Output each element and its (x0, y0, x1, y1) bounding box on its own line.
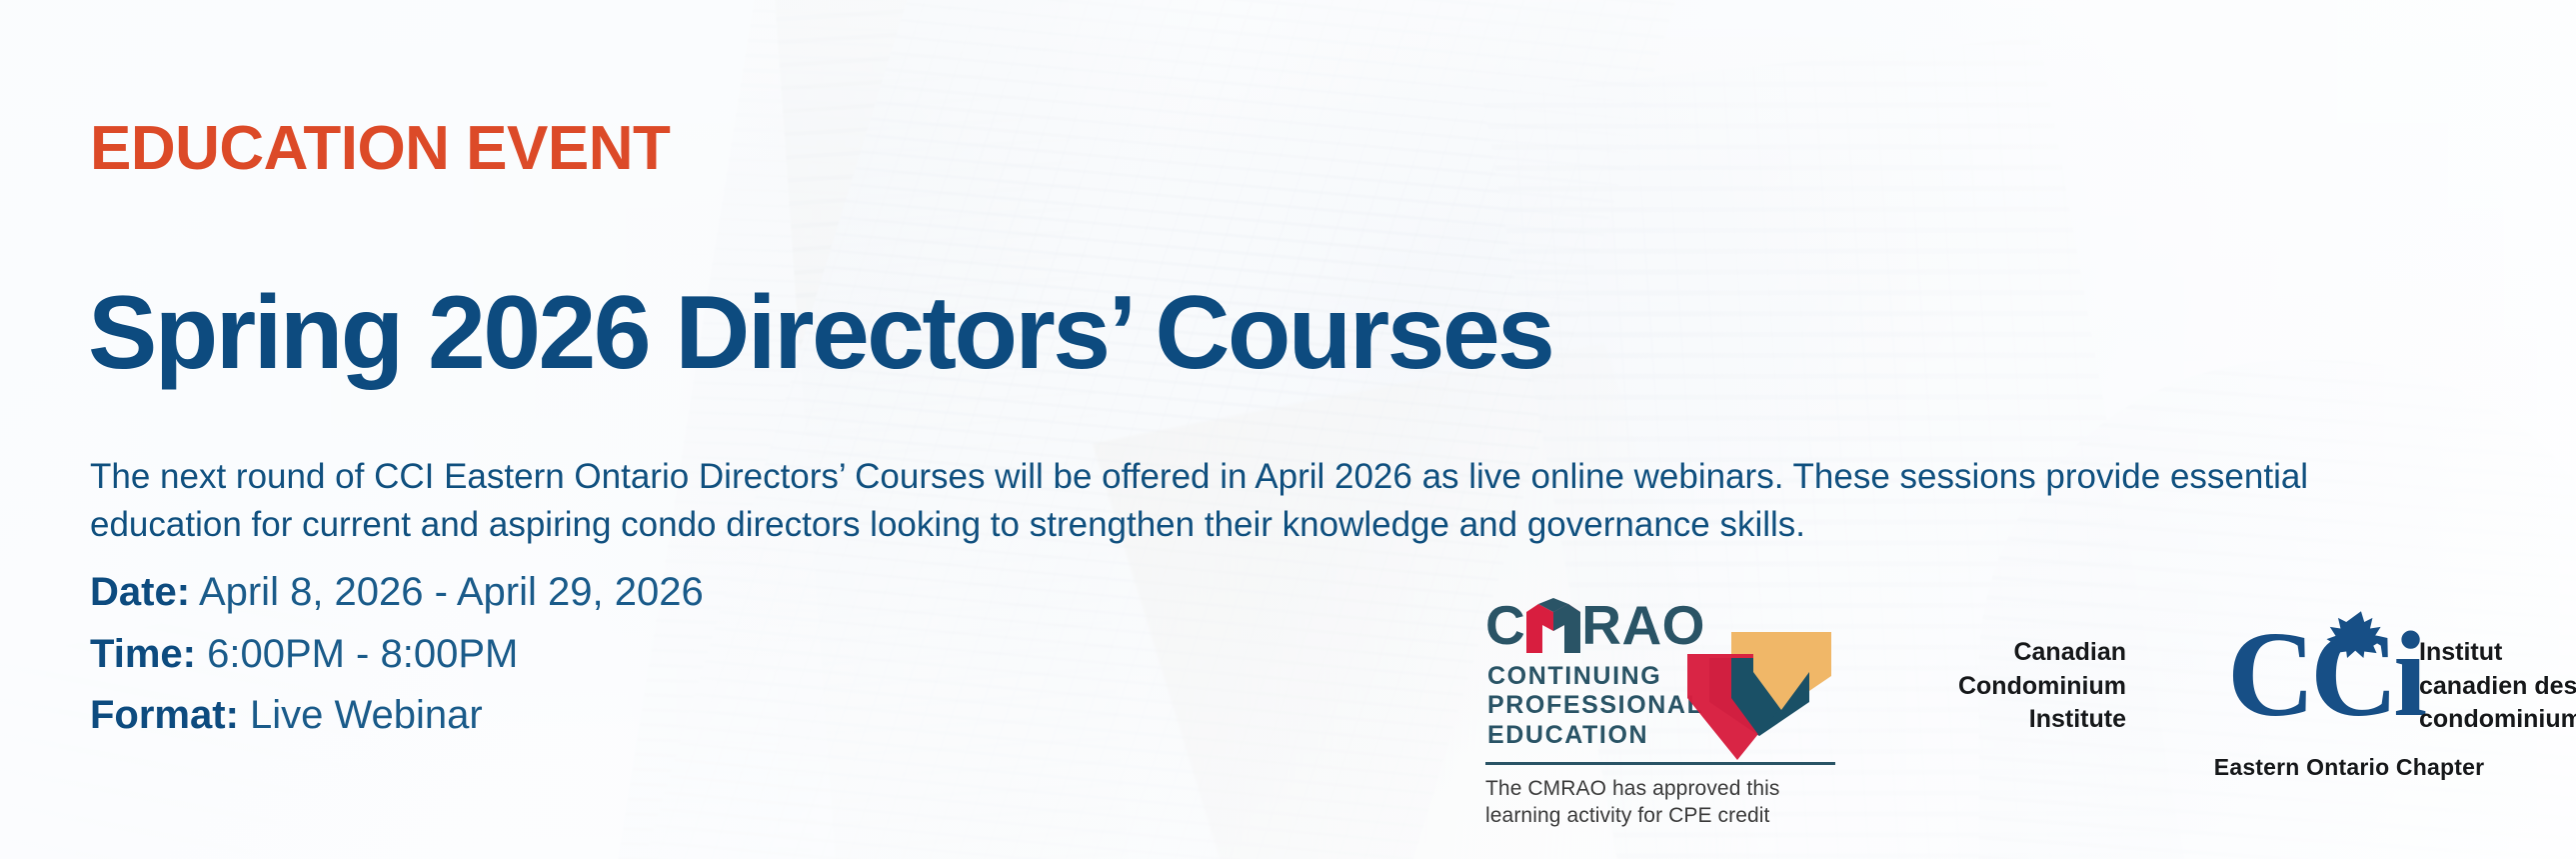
date-label: Date: (90, 570, 190, 614)
date-value: April 8, 2026 - April 29, 2026 (199, 570, 704, 614)
cmrao-tagline-line-2: PROFESSIONAL (1487, 691, 1703, 720)
event-eyebrow-label: EDUCATION EVENT (90, 118, 670, 180)
time-label: Time: (90, 632, 196, 676)
cmrao-wordmark-m-icon (1526, 598, 1580, 653)
event-description: The next round of CCI Eastern Ontario Di… (90, 453, 2409, 550)
cci-logo: Canadian Condominium Institute CCi Insti… (1989, 612, 2544, 792)
cci-chapter-label: Eastern Ontario Chapter (2209, 754, 2489, 781)
cci-french-line-1: Institut (2419, 636, 2576, 670)
cci-english-line-3: Institute (1896, 703, 2126, 737)
event-details-list: Date: April 8, 2026 - April 29, 2026 Tim… (90, 562, 704, 747)
cci-french-line-2: canadien des (2419, 670, 2576, 704)
cmrao-approval-note-line-1: The CMRAO has approved this (1485, 776, 1835, 803)
cmrao-wordmark-c: C (1485, 598, 1525, 653)
detail-row-format: Format: Live Webinar (90, 685, 704, 747)
page-title: Spring 2026 Directors’ Courses (88, 278, 1552, 388)
cmrao-approval-note: The CMRAO has approved this learning act… (1485, 776, 1835, 830)
format-label: Format: (90, 693, 239, 737)
cmrao-logo: C RAO CONTINUING PROFESSIONAL EDUCATION (1485, 598, 1835, 830)
cmrao-approval-note-line-2: learning activity for CPE credit (1485, 803, 1835, 830)
detail-row-date: Date: April 8, 2026 - April 29, 2026 (90, 562, 704, 624)
cci-monogram-icon: CCi (2227, 608, 2402, 758)
cmrao-tagline-line-1: CONTINUING (1487, 662, 1703, 691)
time-value: 6:00PM - 8:00PM (207, 632, 518, 676)
education-event-banner: EDUCATION EVENT Spring 2026 Directors’ C… (0, 0, 2576, 859)
cci-monogram-letters: CCi (2227, 614, 2422, 736)
cmrao-chevron-icon (1681, 624, 1831, 764)
cmrao-wordmark: C RAO (1485, 598, 1705, 653)
cci-english-line-2: Condominium (1896, 670, 2126, 704)
cci-french-name: Institut canadien des condominiums (2419, 636, 2576, 737)
detail-row-time: Time: 6:00PM - 8:00PM (90, 624, 704, 686)
cmrao-tagline: CONTINUING PROFESSIONAL EDUCATION (1487, 662, 1703, 750)
cci-english-name: Canadian Condominium Institute (1896, 636, 2126, 737)
cmrao-logo-top: C RAO CONTINUING PROFESSIONAL EDUCATION (1485, 598, 1835, 760)
format-value: Live Webinar (250, 693, 483, 737)
cci-english-line-1: Canadian (1896, 636, 2126, 670)
banner-content: EDUCATION EVENT Spring 2026 Directors’ C… (0, 0, 2576, 859)
cci-french-line-3: condominiums (2419, 703, 2576, 737)
cmrao-tagline-line-3: EDUCATION (1487, 721, 1703, 750)
